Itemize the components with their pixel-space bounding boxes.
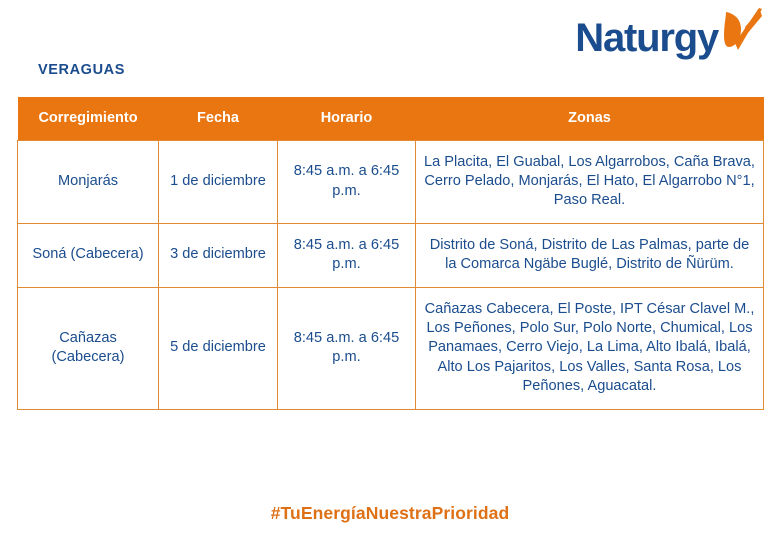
cell-zonas: Distrito de Soná, Distrito de Las Palmas…	[416, 223, 764, 287]
cell-fecha: 1 de diciembre	[159, 140, 278, 223]
column-header-zonas: Zonas	[416, 97, 764, 140]
cell-zonas: Cañazas Cabecera, El Poste, IPT César Cl…	[416, 287, 764, 409]
outage-schedule-table: Corregimiento Fecha Horario Zonas Monjar…	[17, 97, 764, 410]
naturgy-wordmark: Naturgy	[575, 18, 718, 58]
cell-zonas: La Placita, El Guabal, Los Algarrobos, C…	[416, 140, 764, 223]
table-row: Monjarás 1 de diciembre 8:45 a.m. a 6:45…	[18, 140, 764, 223]
page-title: VERAGUAS	[38, 62, 125, 78]
column-header-fecha: Fecha	[159, 97, 278, 140]
column-header-corregimiento: Corregimiento	[18, 97, 159, 140]
cell-horario: 8:45 a.m. a 6:45 p.m.	[278, 223, 416, 287]
cell-fecha: 3 de diciembre	[159, 223, 278, 287]
notice-page: Naturgy VERAGUAS Corregimiento Fecha Hor…	[0, 0, 780, 536]
cell-horario: 8:45 a.m. a 6:45 p.m.	[278, 140, 416, 223]
column-header-horario: Horario	[278, 97, 416, 140]
naturgy-flame-icon	[722, 7, 764, 57]
table-row: Soná (Cabecera) 3 de diciembre 8:45 a.m.…	[18, 223, 764, 287]
cell-corregimiento: Monjarás	[18, 140, 159, 223]
cell-horario: 8:45 a.m. a 6:45 p.m.	[278, 287, 416, 409]
cell-corregimiento: Soná (Cabecera)	[18, 223, 159, 287]
table-row: Cañazas (Cabecera) 5 de diciembre 8:45 a…	[18, 287, 764, 409]
cell-fecha: 5 de diciembre	[159, 287, 278, 409]
campaign-hashtag: #TuEnergíaNuestraPrioridad	[0, 503, 780, 524]
table-header-row: Corregimiento Fecha Horario Zonas	[18, 97, 764, 140]
cell-corregimiento: Cañazas (Cabecera)	[18, 287, 159, 409]
naturgy-logo: Naturgy	[575, 18, 764, 58]
